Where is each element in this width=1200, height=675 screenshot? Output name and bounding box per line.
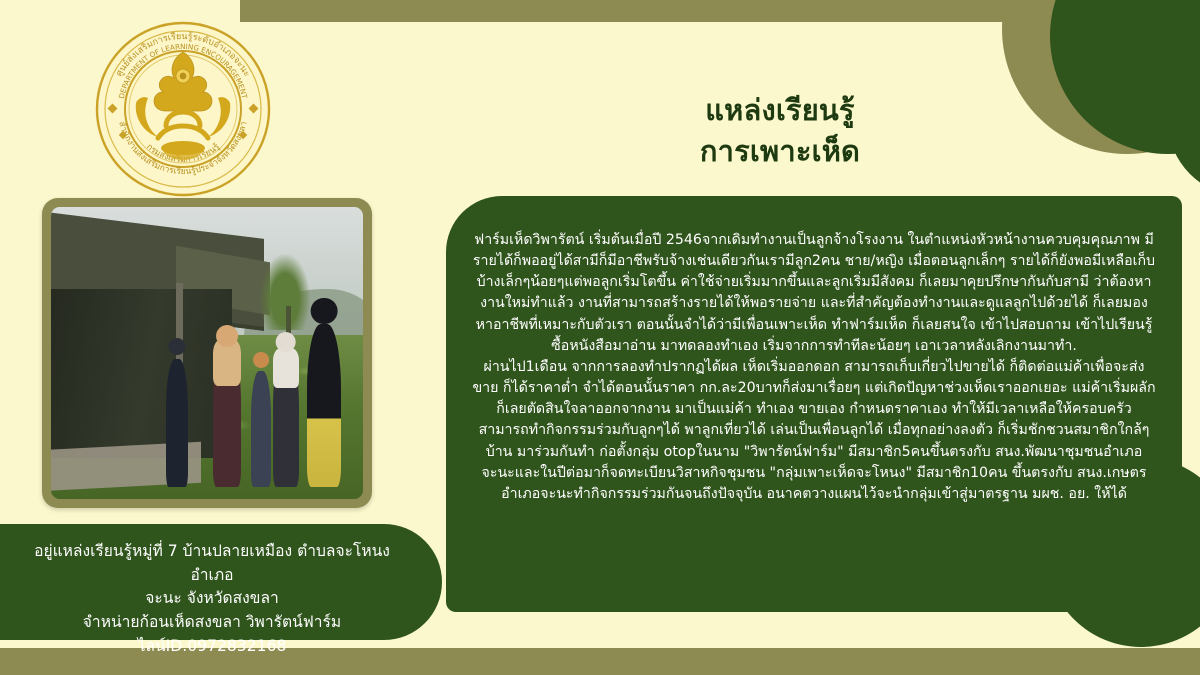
photo-shed-body (51, 289, 232, 458)
caption-line-3: จำหน่ายก้อนเห็ดสงขลา วิพารัตน์ฟาร์มไลน์I… (12, 611, 412, 658)
poster-title: แหล่งเรียนรู้ การเพาะเห็ด (560, 90, 1000, 172)
learning-center-photo-frame (42, 198, 372, 508)
photo-person-2 (213, 347, 241, 487)
article-paragraph-1: ฟาร์มเห็ดวิพารัตน์ เริ่มต้นเมื่อปี 2546จ… (472, 230, 1156, 357)
photo-person-1 (166, 359, 188, 487)
photo-person-5-head (311, 298, 338, 325)
article-panel: ฟาร์มเห็ดวิพารัตน์ เริ่มต้นเมื่อปี 2546จ… (446, 196, 1182, 612)
photo-person-4-head (275, 332, 296, 353)
poster-canvas: ศูนย์ส่งเสริมการเรียนรู้ระดับอำเภอจะนะ D… (0, 0, 1200, 675)
photo-person-3 (251, 371, 271, 488)
photo-person-1-head (169, 338, 186, 355)
title-line-1: แหล่งเรียนรู้ (705, 93, 854, 127)
article-paragraph-2: ผ่านไป1เดือน จากการลองทำปรากฏได้ผล เห็ดเ… (472, 357, 1156, 505)
photo-person-3-head (253, 352, 269, 368)
learning-center-photo (51, 207, 363, 499)
organization-seal-logo: ศูนย์ส่งเสริมการเรียนรู้ระดับอำเภอจะนะ D… (88, 14, 278, 204)
photo-person-5 (307, 324, 341, 488)
title-line-2: การเพาะเห็ด (560, 131, 1000, 172)
address-caption-panel: อยู่แหล่งเรียนรู้หมู่ที่ 7 บ้านปลายเหมือ… (0, 524, 442, 640)
photo-person-2-head (216, 325, 238, 347)
caption-line-1: อยู่แหล่งเรียนรู้หมู่ที่ 7 บ้านปลายเหมือ… (12, 540, 412, 587)
caption-line-2: จะนะ จังหวัดสงขลา (12, 587, 412, 611)
photo-person-4 (273, 353, 300, 487)
photo-tree-canopy (260, 254, 310, 330)
